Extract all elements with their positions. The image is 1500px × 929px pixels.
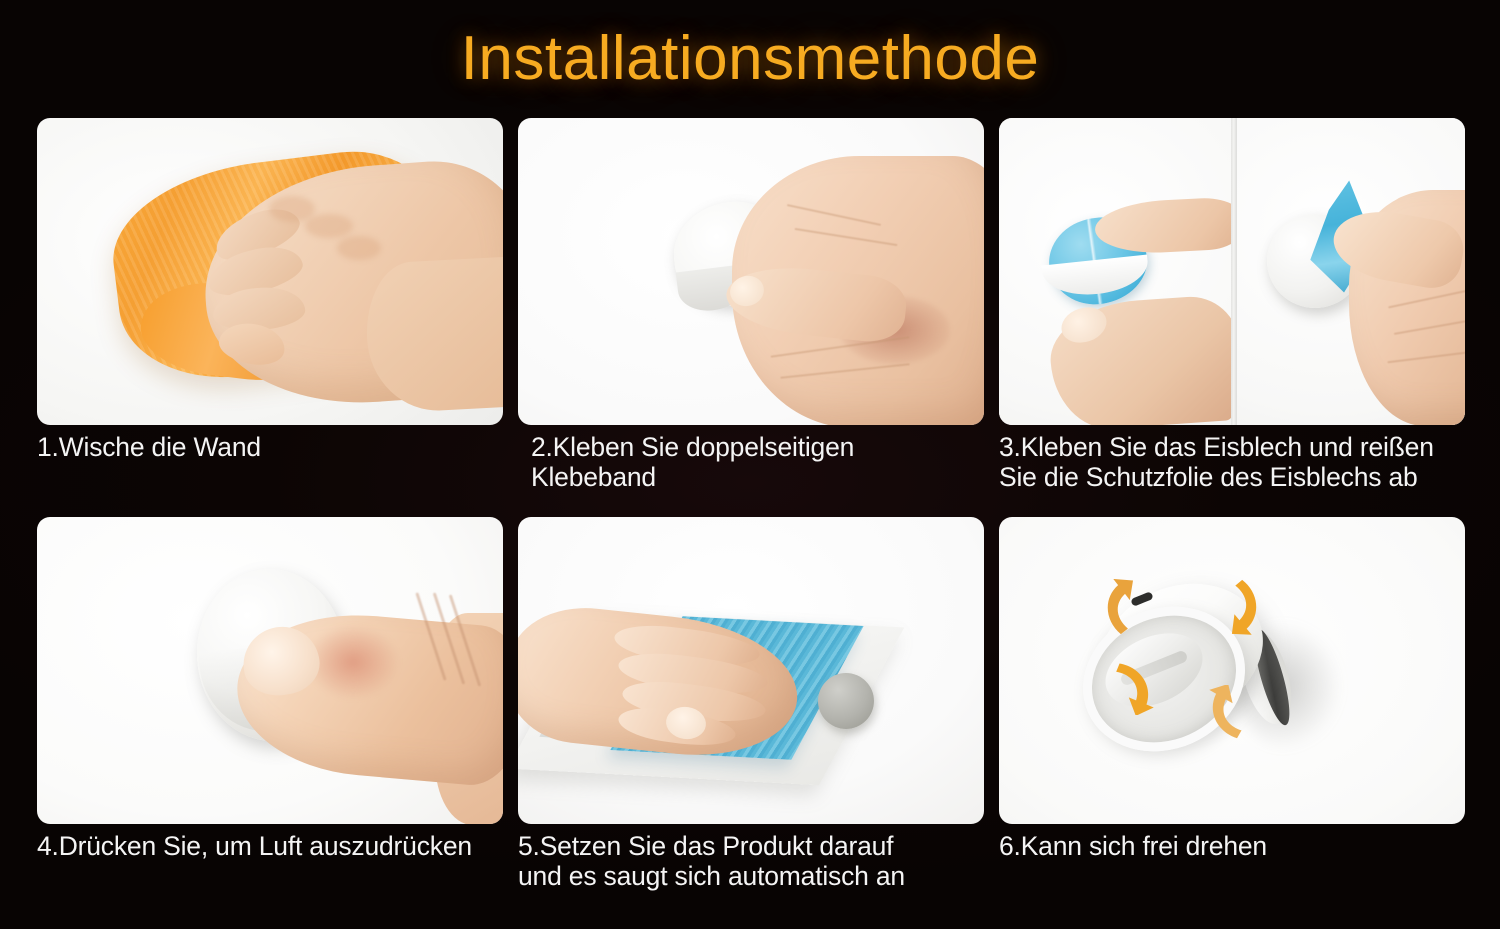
step-2-photo <box>518 118 984 425</box>
step-card-4: 4.Drücken Sie, um Luft auszudrücken <box>37 517 503 861</box>
rotation-arrow-icon <box>1093 579 1149 635</box>
step-3-photo-right <box>1237 118 1465 425</box>
step-2-caption: 2.Kleben Sie doppelseitigen Klebeband <box>518 432 984 492</box>
step-5-caption: 5.Setzen Sie das Produkt darauf und es s… <box>518 831 984 891</box>
knuckle-shading <box>337 236 381 260</box>
step-1-caption: 1.Wische die Wand <box>37 432 503 462</box>
step-card-5: 5.Setzen Sie das Produkt darauf und es s… <box>518 517 984 891</box>
rotation-arrow-icon <box>1105 659 1161 715</box>
installation-instructions-page: Installationsmethode 1.Wische die Wand <box>0 0 1500 929</box>
rotation-arrow-icon <box>1199 685 1255 741</box>
knuckle-shading <box>305 214 353 238</box>
step-3-photo <box>999 118 1465 425</box>
step-4-caption: 4.Drücken Sie, um Luft auszudrücken <box>37 831 503 861</box>
step-4-photo <box>37 517 503 824</box>
step-card-3: 3.Kleben Sie das Eisblech und reißen Sie… <box>999 118 1465 492</box>
step-card-6: 6.Kann sich frei drehen <box>999 517 1465 861</box>
grey-suction-disc-shape <box>818 673 874 729</box>
steps-grid: 1.Wische die Wand 2.Kleben Sie doppelsei… <box>37 118 1465 908</box>
knuckle-shading <box>269 196 315 222</box>
finger-shape <box>1094 196 1231 256</box>
step-card-1: 1.Wische die Wand <box>37 118 503 462</box>
step-card-2: 2.Kleben Sie doppelseitigen Klebeband <box>518 118 984 492</box>
step-6-caption: 6.Kann sich frei drehen <box>999 831 1465 861</box>
rotation-arrow-icon <box>1215 579 1271 635</box>
step-1-photo <box>37 118 503 425</box>
step-5-photo <box>518 517 984 824</box>
step-3-photo-left <box>999 118 1231 425</box>
step-6-photo <box>999 517 1465 824</box>
page-title: Installationsmethode <box>0 21 1500 97</box>
step-3-caption: 3.Kleben Sie das Eisblech und reißen Sie… <box>999 432 1465 492</box>
pressure-blush <box>307 625 399 699</box>
